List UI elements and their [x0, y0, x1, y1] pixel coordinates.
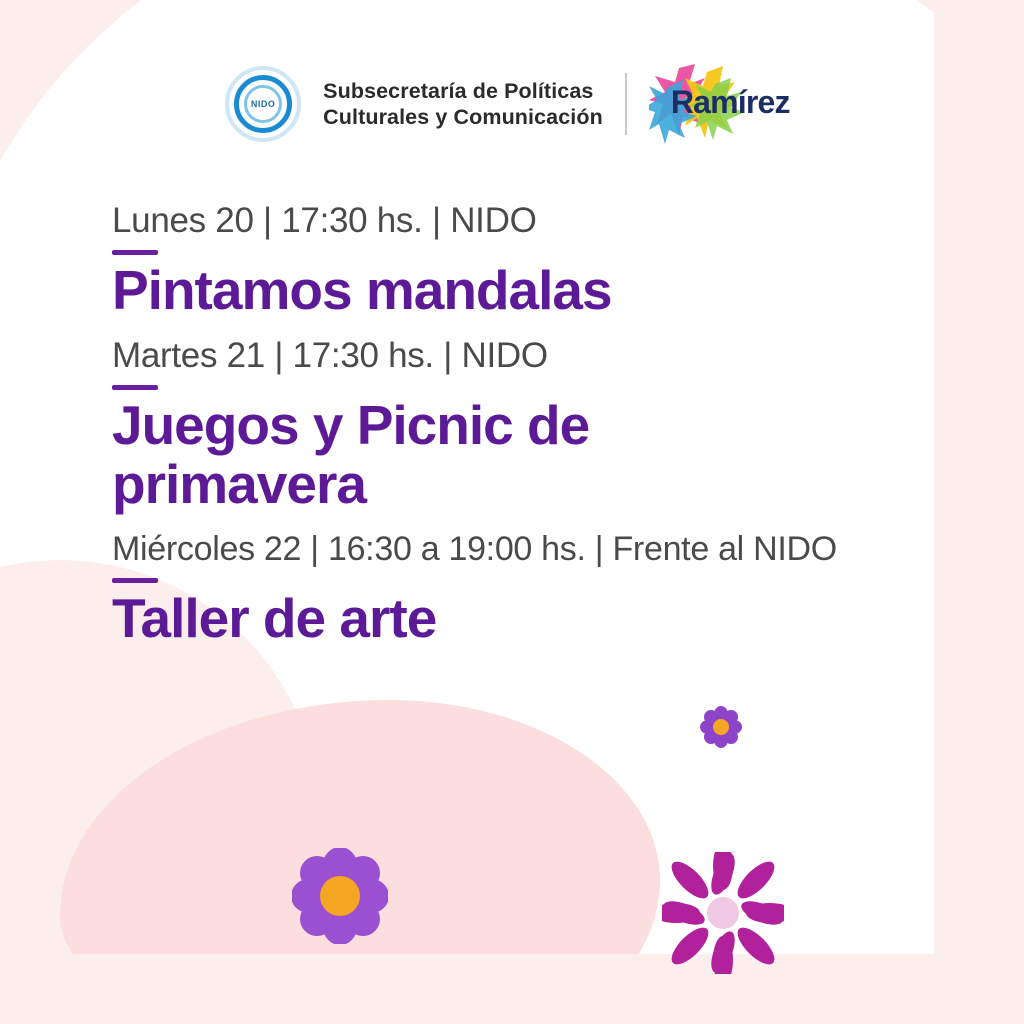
header-divider: [625, 73, 627, 135]
event-rule: [112, 250, 158, 255]
event-title: Pintamos mandalas: [112, 261, 832, 320]
event-date: Miércoles 22 | 16:30 a 19:00 hs. | Frent…: [112, 529, 992, 569]
ramirez-label: Ramírez: [671, 84, 790, 121]
poster-canvas: NIDO Subsecretaría de Políticas Cultural…: [0, 0, 1024, 1024]
flower-medium-icon: [292, 848, 388, 944]
event-date: Lunes 20 | 17:30 hs. | NIDO: [112, 200, 992, 241]
event-date: Martes 21 | 17:30 hs. | NIDO: [112, 335, 992, 376]
flower-small-icon: [700, 706, 742, 748]
flower-large-icon: [662, 852, 784, 974]
subsecretaria-label: Subsecretaría de Políticas Culturales y …: [323, 78, 603, 130]
header: NIDO Subsecretaría de Políticas Cultural…: [0, 62, 1024, 146]
event-item: Miércoles 22 | 16:30 a 19:00 hs. | Frent…: [112, 529, 992, 649]
events-list: Lunes 20 | 17:30 hs. | NIDO Pintamos man…: [112, 200, 992, 662]
event-rule: [112, 385, 158, 390]
event-item: Lunes 20 | 17:30 hs. | NIDO Pintamos man…: [112, 200, 992, 321]
ramirez-star-logo: Ramírez: [649, 62, 799, 146]
event-title: Juegos y Picnic de primavera: [112, 396, 752, 515]
event-item: Martes 21 | 17:30 hs. | NIDO Juegos y Pi…: [112, 335, 992, 515]
logo-ring-inner: NIDO: [244, 85, 282, 123]
logo-label: NIDO: [251, 99, 276, 109]
background-edge-bottom: [0, 954, 1024, 1024]
nido-circles-logo: NIDO: [225, 66, 301, 142]
event-title: Taller de arte: [112, 589, 832, 648]
event-rule: [112, 578, 158, 583]
